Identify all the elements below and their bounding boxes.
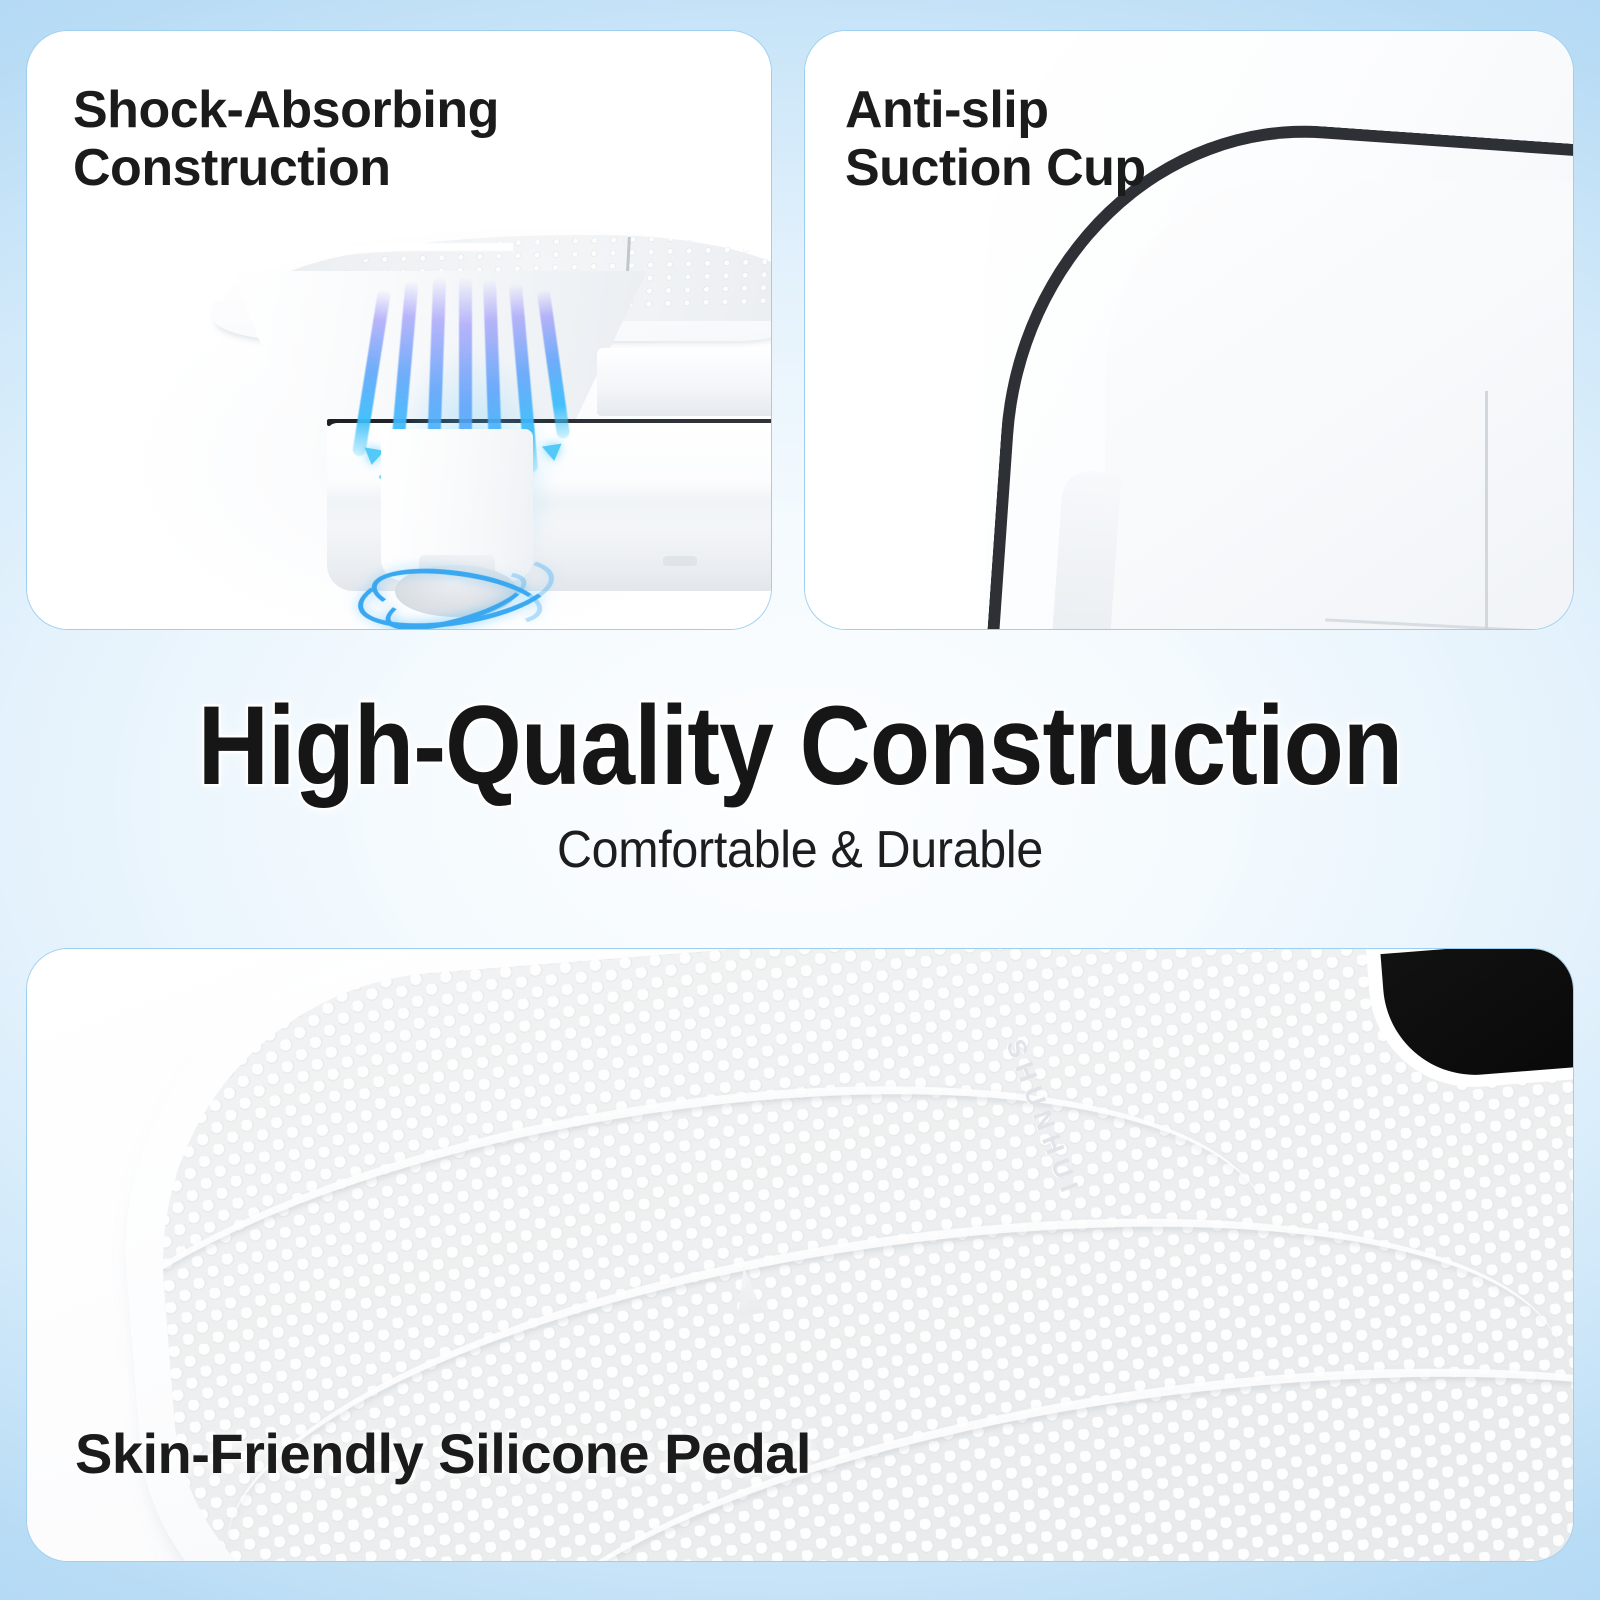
machine-side-groove — [1050, 469, 1121, 630]
main-headline: High-Quality Construction — [96, 688, 1504, 804]
card-anti-slip-suction-cup: Anti-slip Suction Cup — [804, 30, 1574, 630]
machine-panel-seam — [1485, 391, 1488, 630]
down-arrow-icon — [542, 444, 564, 463]
card-shock-title: Shock-Absorbing Construction — [73, 81, 499, 197]
card-silicone-pedal: SHUNHUI Skin-Friendly Silicone Pedal — [26, 948, 1574, 1562]
machine-indicator — [663, 556, 697, 566]
card-shock-absorbing: Shock-Absorbing Construction — [26, 30, 772, 630]
infographic-page: Shock-Absorbing Construction Anti-sli — [0, 0, 1600, 1600]
headline-block: High-Quality Construction Comfortable & … — [0, 688, 1600, 880]
machine-body-notch — [597, 348, 772, 416]
sub-headline: Comfortable & Durable — [56, 820, 1544, 880]
card-pedal-title: Skin-Friendly Silicone Pedal — [75, 1423, 811, 1486]
card-suction-title: Anti-slip Suction Cup — [845, 81, 1146, 197]
